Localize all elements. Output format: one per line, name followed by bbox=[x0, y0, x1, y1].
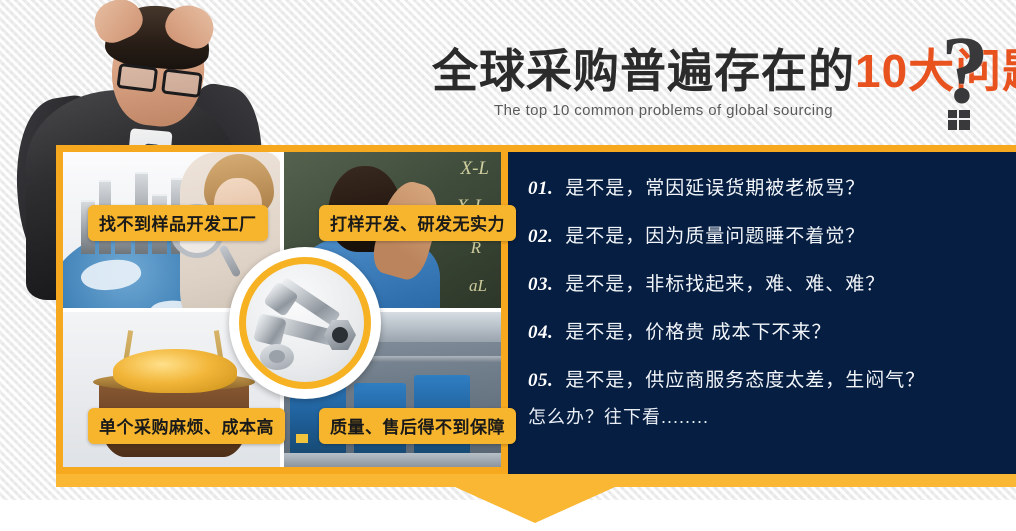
list-item: 03. 是不是，非标找起来，难、难、难？ bbox=[528, 269, 998, 296]
list-item-text: 是不是，价格贵 成本下不来？ bbox=[565, 317, 831, 344]
list-item-number: 02. bbox=[528, 226, 553, 248]
list-item-number: 01. bbox=[528, 178, 553, 200]
list-item: 01. 是不是，常因延误货期被老板骂？ bbox=[528, 173, 998, 200]
list-item-number: 05. bbox=[528, 370, 553, 392]
list-item-number: 04. bbox=[528, 322, 553, 344]
problems-list: 01. 是不是，常因延误货期被老板骂？ 02. 是不是，因为质量问题睡不着觉？ … bbox=[528, 173, 998, 413]
list-item-text: 是不是，因为质量问题睡不着觉？ bbox=[565, 221, 865, 248]
list-item: 02. 是不是，因为质量问题睡不着觉？ bbox=[528, 221, 998, 248]
problems-panel: 01. 是不是，常因延误货期被老板骂？ 02. 是不是，因为质量问题睡不着觉？ … bbox=[508, 145, 1016, 474]
bolts-ring bbox=[239, 257, 371, 389]
blackboard-formula: R bbox=[471, 238, 481, 258]
headline-accent: 10大问题 bbox=[855, 45, 1016, 97]
caption-pill-3: 单个采购麻烦、成本高 bbox=[88, 408, 285, 444]
list-item-text: 是不是，常因延误货期被老板骂？ bbox=[565, 173, 865, 200]
headline-block: 全球采购普遍存在的10大问题 The top 10 common problem… bbox=[432, 44, 1012, 140]
list-item: 05. 是不是，供应商服务态度太差，生闷气？ bbox=[528, 365, 998, 392]
list-item: 04. 是不是，价格贵 成本下不来？ bbox=[528, 317, 998, 344]
panel-top-rule bbox=[508, 145, 1016, 152]
question-mark-dot-icon bbox=[948, 110, 970, 130]
caption-pill-1: 找不到样品开发工厂 bbox=[88, 205, 268, 241]
caption-pill-2: 打样开发、研发无实力 bbox=[319, 205, 516, 241]
factory-floor bbox=[284, 453, 501, 467]
panel-footer-text: 怎么办？往下看........ bbox=[528, 403, 709, 429]
list-item-number: 03. bbox=[528, 274, 553, 296]
bolt-head bbox=[253, 313, 287, 347]
list-item-text: 是不是，非标找起来，难、难、难？ bbox=[565, 269, 885, 296]
blackboard-formula: aL bbox=[469, 276, 487, 296]
bottom-band bbox=[56, 474, 1016, 487]
caption-pill-4: 质量、售后得不到保障 bbox=[319, 408, 516, 444]
blackboard-formula: X-L bbox=[461, 158, 490, 180]
machine-panel bbox=[296, 434, 308, 443]
banner-stage: 全球采购普遍存在的10大问题 The top 10 common problem… bbox=[0, 0, 1016, 531]
list-item-text: 是不是，供应商服务态度太差，生闷气？ bbox=[565, 365, 925, 392]
washer-icon bbox=[260, 344, 294, 370]
gold-nuggets bbox=[113, 349, 237, 393]
headline-main: 全球采购普遍存在的 bbox=[432, 45, 855, 97]
bolts-circle-inset bbox=[229, 247, 381, 399]
headline-text: 全球采购普遍存在的10大问题 bbox=[432, 44, 1016, 98]
question-mark-icon: ? bbox=[941, 22, 989, 118]
headline-subtitle: The top 10 common problems of global sou… bbox=[494, 102, 833, 119]
